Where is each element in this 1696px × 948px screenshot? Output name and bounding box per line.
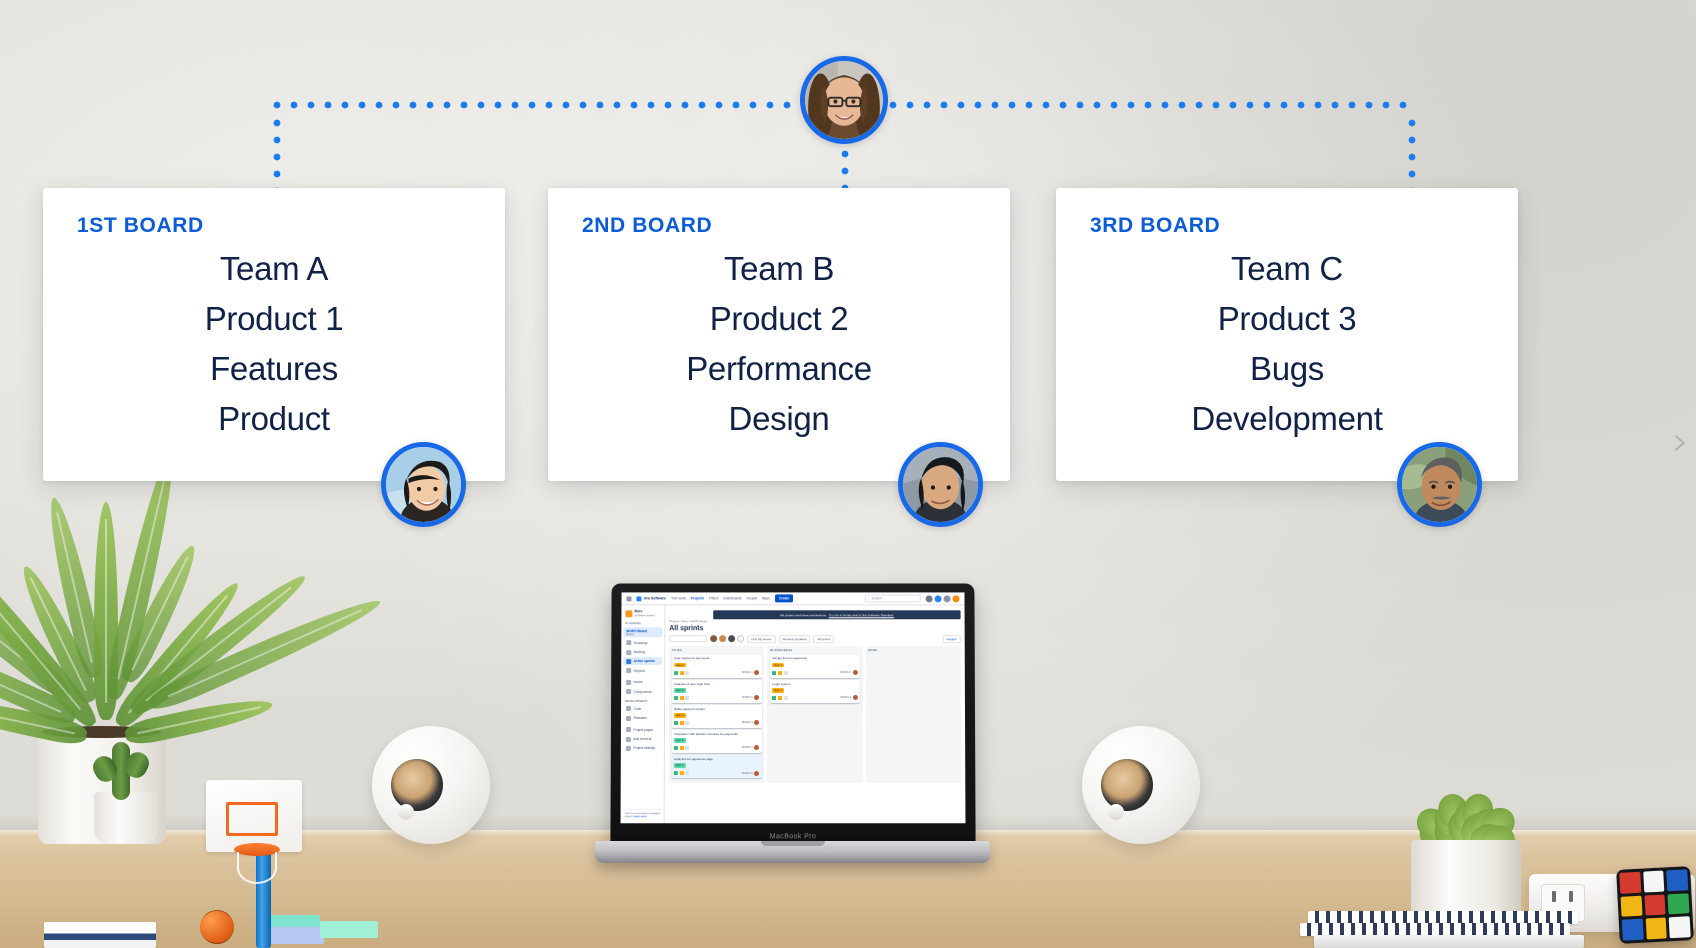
board-member-avatars[interactable] (710, 635, 744, 642)
issue-estimate-badge (685, 771, 689, 775)
dracaena-plant (0, 474, 386, 844)
sidebar-label-project-settings: Project settings (633, 746, 655, 750)
sidebar-item-project-settings[interactable]: Project settings (623, 744, 662, 752)
board-card-3-avatar-photo (1402, 447, 1477, 522)
project-icon (625, 610, 632, 617)
board-card-1[interactable]: 1ST BOARD Team A Product 1 Features Prod… (43, 188, 505, 481)
jira-nav-actions[interactable] (926, 595, 960, 602)
filter-recently-updated[interactable]: Recently Updated (779, 635, 811, 643)
board-toolbar[interactable]: Only My Issues Recently Updated All spri… (669, 635, 960, 643)
issue-key: MORO-6 (742, 696, 753, 699)
board-issue-card[interactable]: Integration with platform services for p… (671, 730, 761, 753)
sidebar-item-releases[interactable]: Releases (623, 714, 662, 722)
carousel-next-icon[interactable] (1668, 432, 1690, 454)
issue-meta: MORO-7 (674, 745, 759, 750)
board-card-1-lines: Team A Product 1 Features Product (43, 250, 505, 439)
board-column-header: TO DO (672, 649, 762, 653)
app-switcher-icon[interactable] (626, 596, 631, 601)
settings-gear-icon (626, 746, 631, 751)
sidebar-label-releases: Releases (633, 716, 646, 720)
nav-filters[interactable]: Filters (709, 596, 718, 600)
filter-all-sprints[interactable]: All sprints (813, 635, 834, 643)
sidebar-label-issues: Issues (634, 680, 643, 684)
help-icon[interactable] (935, 595, 942, 602)
board-column-2[interactable]: IN PROGRESSDesign flow for paymentsEpic … (767, 646, 862, 783)
laptop-model-label: MacBook Pro (610, 833, 975, 840)
sidebar-label-add-shortcut: Add shortcut (633, 737, 651, 741)
scene-root: Jira Software Your work Projects Filters… (0, 0, 1696, 948)
sidebar-item-backlog[interactable]: Backlog (623, 648, 662, 656)
issue-type-icon (674, 671, 678, 675)
issue-priority-icon (679, 746, 683, 750)
pages-icon (626, 727, 631, 732)
sidebar-item-code[interactable]: Code (623, 705, 662, 713)
board-card-1-line-3: Features (210, 350, 338, 389)
sidebar-label-backlog: Backlog (634, 650, 645, 654)
issue-estimate-badge (685, 671, 689, 675)
sidebar-item-roadmap[interactable]: Roadmap (623, 639, 662, 647)
lead-avatar[interactable] (800, 56, 888, 144)
sidebar-board-sub: Board (626, 633, 659, 636)
sticky-note-mint (320, 921, 378, 938)
board-card-1-line-4: Product (218, 400, 330, 439)
laptop-base (595, 841, 990, 863)
banner-text: Set project and issue permissions. (780, 613, 827, 617)
board-card-3-kicker: 3RD BOARD (1090, 214, 1220, 238)
issue-assignee-avatar[interactable] (754, 771, 759, 776)
sidebar-item-active-sprints[interactable]: Active sprints (623, 658, 662, 666)
page-title: All sprints (669, 625, 960, 632)
issue-priority-icon (679, 771, 683, 775)
issue-type-icon (674, 771, 678, 775)
issue-meta: MORO-6 (674, 695, 759, 700)
basketball-backboard (206, 780, 302, 852)
sidebar-label-active-sprints: Active sprints (634, 660, 655, 664)
learn-more-link[interactable]: Learn more (633, 815, 646, 818)
board-card-1-kicker: 1ST BOARD (77, 214, 204, 238)
board-issue-card[interactable]: Analysis of user login flowEpic 2MORO-6 (672, 680, 762, 703)
profile-avatar[interactable] (953, 595, 960, 602)
jira-main: Set project and issue permissions. Try i… (665, 605, 966, 823)
issue-assignee-avatar[interactable] (853, 670, 858, 675)
issue-key: MORO-5 (742, 772, 753, 775)
board-card-2-avatar[interactable] (898, 442, 983, 527)
sidebar-section-development: DEVELOPMENT (625, 700, 662, 703)
board-issue-card[interactable]: Design flow for paymentsEpic 1MORO-2 (770, 655, 860, 678)
member-avatar-3[interactable] (728, 635, 735, 642)
sidebar-label-components: Components (634, 690, 652, 694)
backlog-icon (626, 650, 631, 655)
issue-assignee-avatar[interactable] (754, 670, 759, 675)
issue-title: Integration with platform services for p… (674, 733, 759, 737)
member-avatar-more[interactable] (737, 635, 744, 642)
board-card-1-line-1: Team A (220, 250, 328, 289)
board-issue-card[interactable]: User stories for paymentsEpic 1MORO-1 (672, 655, 762, 678)
search-placeholder: Search (872, 596, 882, 600)
issue-title: Analysis of user login flow (674, 683, 759, 687)
issue-key: MORO-4 (742, 721, 753, 724)
issue-meta: MORO-1 (674, 670, 759, 675)
components-icon (626, 689, 631, 694)
sidebar-label-code: Code (634, 707, 642, 711)
sidebar-item-add-shortcut[interactable]: Add shortcut (623, 735, 662, 743)
sprint-icon (626, 659, 631, 664)
board-card-2-line-2: Product 2 (710, 300, 849, 339)
nav-your-work[interactable]: Your work (671, 596, 686, 600)
board-card-3-line-3: Bugs (1250, 350, 1324, 389)
board-card-3-line-2: Product 3 (1218, 300, 1357, 339)
issue-epic-tag[interactable]: Epic 4 (772, 688, 784, 693)
board-column-header: IN PROGRESS (770, 649, 860, 653)
sidebar-label-roadmap: Roadmap (634, 641, 648, 645)
issue-estimate-badge (685, 696, 689, 700)
issue-epic-tag[interactable]: Epic 3 (674, 713, 686, 718)
issue-title: Spike payment system (674, 708, 759, 712)
jira-logo[interactable]: Jira Software (636, 596, 666, 601)
speaker-left (372, 726, 490, 844)
insights-button[interactable]: Insights (942, 635, 960, 643)
breadcrumb-project[interactable]: Moro (682, 619, 688, 623)
banner-link[interactable]: Try it in a 14-day trial of Jira Softwar… (829, 613, 894, 617)
issue-title: Analytics for payments page (674, 758, 759, 762)
issue-estimate-badge (784, 671, 788, 675)
breadcrumb-board[interactable]: MORO Board (690, 619, 707, 623)
issue-epic-tag[interactable]: Epic 1 (674, 663, 686, 668)
board-card-1-avatar-photo (386, 447, 461, 522)
issue-assignee-avatar[interactable] (754, 720, 759, 725)
issue-title: User stories for payments (674, 657, 759, 661)
reports-icon (626, 668, 631, 673)
board-card-2-kicker: 2ND BOARD (582, 214, 712, 238)
board-issue-card[interactable]: Spike payment systemEpic 3MORO-4 (671, 705, 761, 728)
breadcrumb[interactable]: Projects / Moro / MORO Board (669, 619, 960, 623)
issue-type-icon (772, 671, 776, 675)
issue-title: Login system (772, 683, 857, 687)
jira-topnav[interactable]: Jira Software Your work Projects Filters… (621, 592, 964, 605)
board-card-2-avatar-photo (903, 447, 978, 522)
sidebar-section-planning: PLANNING (625, 622, 662, 625)
nav-apps[interactable]: Apps (762, 596, 770, 600)
board-card-2[interactable]: 2ND BOARD Team B Product 2 Performance D… (548, 188, 1010, 481)
issue-priority-icon (778, 696, 782, 700)
board-card-1-line-2: Product 1 (205, 300, 344, 339)
laptop-screen[interactable]: Jira Software Your work Projects Filters… (621, 592, 966, 823)
board-card-3-avatar[interactable] (1397, 442, 1482, 527)
lead-avatar-photo (805, 61, 883, 139)
issue-meta: MORO-2 (772, 670, 857, 675)
board-card-2-line-4: Design (729, 400, 830, 439)
issue-priority-icon (680, 721, 684, 725)
issue-estimate-badge (685, 746, 689, 750)
permissions-banner[interactable]: Set project and issue permissions. Try i… (713, 610, 960, 619)
basketball-net (237, 852, 277, 884)
speaker-right (1082, 726, 1200, 844)
project-type: Software project (634, 613, 654, 617)
sidebar-item-components[interactable]: Components (623, 688, 662, 696)
issue-estimate-badge (685, 721, 689, 725)
board-issue-card[interactable]: Login systemEpic 4MORO-3 (770, 680, 860, 703)
board-search-input[interactable] (669, 635, 707, 642)
nav-projects[interactable]: Projects (691, 596, 704, 600)
notebook-stack (1300, 910, 1600, 948)
cactus-pot (94, 792, 158, 844)
issue-key: MORO-2 (840, 671, 851, 674)
jira-sidebar[interactable]: Moro Software project PLANNING MORO Boar… (621, 605, 666, 823)
jira-mark-icon (636, 596, 641, 601)
member-avatar-2[interactable] (719, 635, 726, 642)
add-shortcut-icon (626, 737, 631, 742)
board-card-1-avatar[interactable] (381, 442, 466, 527)
roadmap-icon (626, 640, 631, 645)
sidebar-footer: You're in a company-managed project Lear… (623, 809, 662, 820)
mini-basketball (200, 910, 234, 944)
breadcrumb-projects[interactable]: Projects (669, 619, 679, 623)
issue-type-icon (772, 696, 776, 700)
issue-epic-tag[interactable]: Epic 2 (674, 763, 686, 768)
board-card-3[interactable]: 3RD BOARD Team C Product 3 Bugs Developm… (1056, 188, 1518, 481)
issues-icon (626, 680, 631, 685)
issue-type-icon (674, 696, 678, 700)
code-icon (626, 706, 631, 711)
board-card-3-lines: Team C Product 3 Bugs Development (1056, 250, 1518, 439)
issue-key: MORO-1 (742, 671, 753, 674)
issue-key: MORO-7 (742, 746, 753, 749)
board-columns: TO DOUser stories for paymentsEpic 1MORO… (669, 646, 962, 783)
issue-assignee-avatar[interactable] (853, 695, 858, 700)
issue-priority-icon (680, 696, 684, 700)
sidebar-label-project-pages: Project pages (633, 728, 653, 732)
sidebar-item-project-pages[interactable]: Project pages (623, 726, 662, 734)
issue-meta: MORO-5 (674, 771, 759, 776)
board-card-2-line-3: Performance (686, 350, 872, 389)
member-avatar-1[interactable] (710, 635, 717, 642)
jira-search-input[interactable]: ⌕ Search (865, 594, 921, 602)
issue-assignee-avatar[interactable] (754, 745, 759, 750)
issue-assignee-avatar[interactable] (754, 695, 759, 700)
issue-key: MORO-3 (840, 696, 851, 699)
issue-epic-tag[interactable]: Epic 1 (772, 663, 784, 668)
issue-priority-icon (778, 671, 782, 675)
board-column-header: DONE (868, 649, 958, 653)
issue-title: Design flow for payments (772, 657, 857, 661)
left-notebook (44, 922, 156, 948)
jira-app-name: Jira Software (643, 596, 666, 600)
notifications-icon[interactable] (926, 595, 933, 602)
sidebar-board-selector[interactable]: MORO Board Board (623, 628, 662, 638)
issue-type-icon (674, 721, 678, 725)
sidebar-item-reports[interactable]: Reports (623, 667, 662, 675)
jira-app[interactable]: Jira Software Your work Projects Filters… (621, 592, 966, 823)
board-column-3[interactable]: DONE (866, 646, 962, 783)
sticky-note-blue (266, 927, 324, 944)
board-card-2-line-1: Team B (724, 250, 834, 289)
issue-epic-tag[interactable]: Epic 2 (674, 688, 686, 693)
issue-priority-icon (680, 671, 684, 675)
issue-meta: MORO-4 (674, 720, 759, 725)
laptop-lid: Jira Software Your work Projects Filters… (610, 583, 975, 845)
board-column-1[interactable]: TO DOUser stories for paymentsEpic 1MORO… (669, 646, 765, 783)
search-icon: ⌕ (868, 596, 870, 600)
board-issue-card[interactable]: Analytics for payments pageEpic 2MORO-5 (671, 755, 761, 778)
issue-estimate-badge (784, 696, 788, 700)
settings-icon[interactable] (944, 595, 951, 602)
nav-people[interactable]: People (747, 596, 758, 600)
nav-dashboards[interactable]: Dashboards (723, 596, 741, 600)
sidebar-label-reports: Reports (634, 669, 645, 673)
laptop: Jira Software Your work Projects Filters… (595, 583, 990, 873)
issue-type-icon (674, 746, 678, 750)
issue-epic-tag[interactable]: Epic 2 (674, 738, 686, 743)
board-card-3-line-4: Development (1191, 400, 1382, 439)
issue-meta: MORO-3 (772, 695, 857, 700)
releases-icon (626, 716, 631, 721)
sidebar-item-issues[interactable]: Issues (623, 678, 662, 686)
filter-only-my-issues[interactable]: Only My Issues (747, 635, 775, 643)
board-card-3-line-1: Team C (1231, 250, 1343, 289)
rubiks-cube (1616, 866, 1694, 944)
board-card-2-lines: Team B Product 2 Performance Design (548, 250, 1010, 439)
create-button[interactable]: Create (775, 595, 794, 602)
sidebar-project[interactable]: Moro Software project (623, 608, 662, 618)
